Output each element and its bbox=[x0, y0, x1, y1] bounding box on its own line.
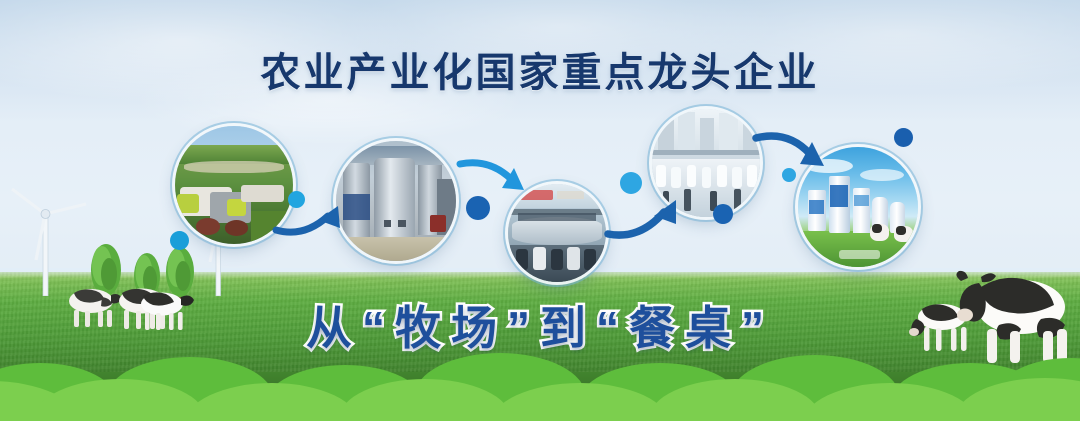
flow-arrow-up-icon bbox=[272, 200, 352, 240]
flow-arrow-up-icon bbox=[604, 198, 690, 244]
decor-dot-blue bbox=[466, 196, 490, 220]
decor-dot-cyan bbox=[782, 168, 796, 182]
flow-arrow-down-icon bbox=[456, 156, 536, 198]
dairy-industry-banner: 农业产业化国家重点龙头企业 从“牧场”到“餐桌” bbox=[0, 0, 1080, 421]
page-title: 农业产业化国家重点龙头企业 bbox=[0, 40, 1080, 98]
wind-turbine-icon bbox=[2, 186, 92, 296]
scalloped-hills bbox=[0, 331, 1080, 421]
decor-dot-cyan bbox=[620, 172, 642, 194]
decor-dot-blue bbox=[713, 204, 733, 224]
process-circle-silo-storage[interactable] bbox=[336, 141, 456, 261]
decor-dot-blue bbox=[894, 128, 913, 147]
decor-dot-cyan bbox=[170, 231, 189, 250]
flow-arrow-down-icon bbox=[752, 130, 836, 174]
decor-dot-cyan bbox=[288, 191, 305, 208]
process-circle-milking-parlor[interactable] bbox=[508, 184, 606, 282]
